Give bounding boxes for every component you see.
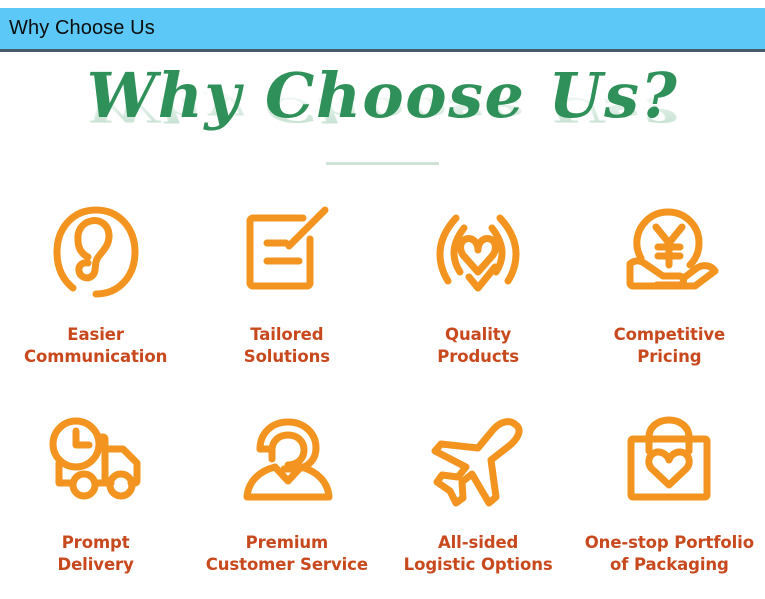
hero-headline: Why Choose Us?	[0, 57, 765, 135]
hand-holding-yen-coin-icon	[617, 192, 721, 312]
ear-in-circle-icon	[49, 192, 143, 312]
shopping-bag-heart-icon	[619, 402, 719, 520]
hero-divider	[326, 162, 439, 165]
feature-label: One-stop Portfolio of Packaging	[585, 532, 754, 576]
airplane-icon	[428, 402, 528, 520]
feature-label: Quality Products	[437, 324, 519, 368]
feature-item-premium-customer-service[interactable]: Premium Customer Service	[191, 402, 382, 599]
feature-label: Easier Communication	[24, 324, 167, 368]
feature-label: Tailored Solutions	[244, 324, 330, 368]
feature-item-competitive-pricing[interactable]: Competitive Pricing	[574, 192, 765, 402]
feature-label: Premium Customer Service	[206, 532, 368, 576]
document-pencil-icon	[237, 192, 337, 312]
feature-item-tailored-solutions[interactable]: Tailored Solutions	[191, 192, 382, 402]
feature-label: All-sided Logistic Options	[404, 532, 553, 576]
hero-section: Why Choose Us? Why Choose Us?	[0, 55, 765, 175]
delivery-truck-clock-icon	[41, 402, 151, 520]
banner-title: Why Choose Us	[0, 17, 155, 40]
feature-item-quality-products[interactable]: Quality Products	[383, 192, 574, 402]
feature-label: Competitive Pricing	[614, 324, 726, 368]
feature-item-all-sided-logistic-options[interactable]: All-sided Logistic Options	[383, 402, 574, 599]
page-banner: Why Choose Us	[0, 8, 765, 52]
feature-label: Prompt Delivery	[58, 532, 134, 576]
heart-signal-check-icon	[426, 192, 530, 312]
feature-row-2: Prompt Delivery Premium Customer Service	[0, 402, 765, 599]
feature-grid: Easier Communication Tailored Solutions	[0, 192, 765, 599]
headset-agent-icon	[234, 402, 340, 520]
feature-item-easier-communication[interactable]: Easier Communication	[0, 192, 191, 402]
feature-item-prompt-delivery[interactable]: Prompt Delivery	[0, 402, 191, 599]
feature-item-one-stop-portfolio-of-packaging[interactable]: One-stop Portfolio of Packaging	[574, 402, 765, 599]
feature-row-1: Easier Communication Tailored Solutions	[0, 192, 765, 402]
